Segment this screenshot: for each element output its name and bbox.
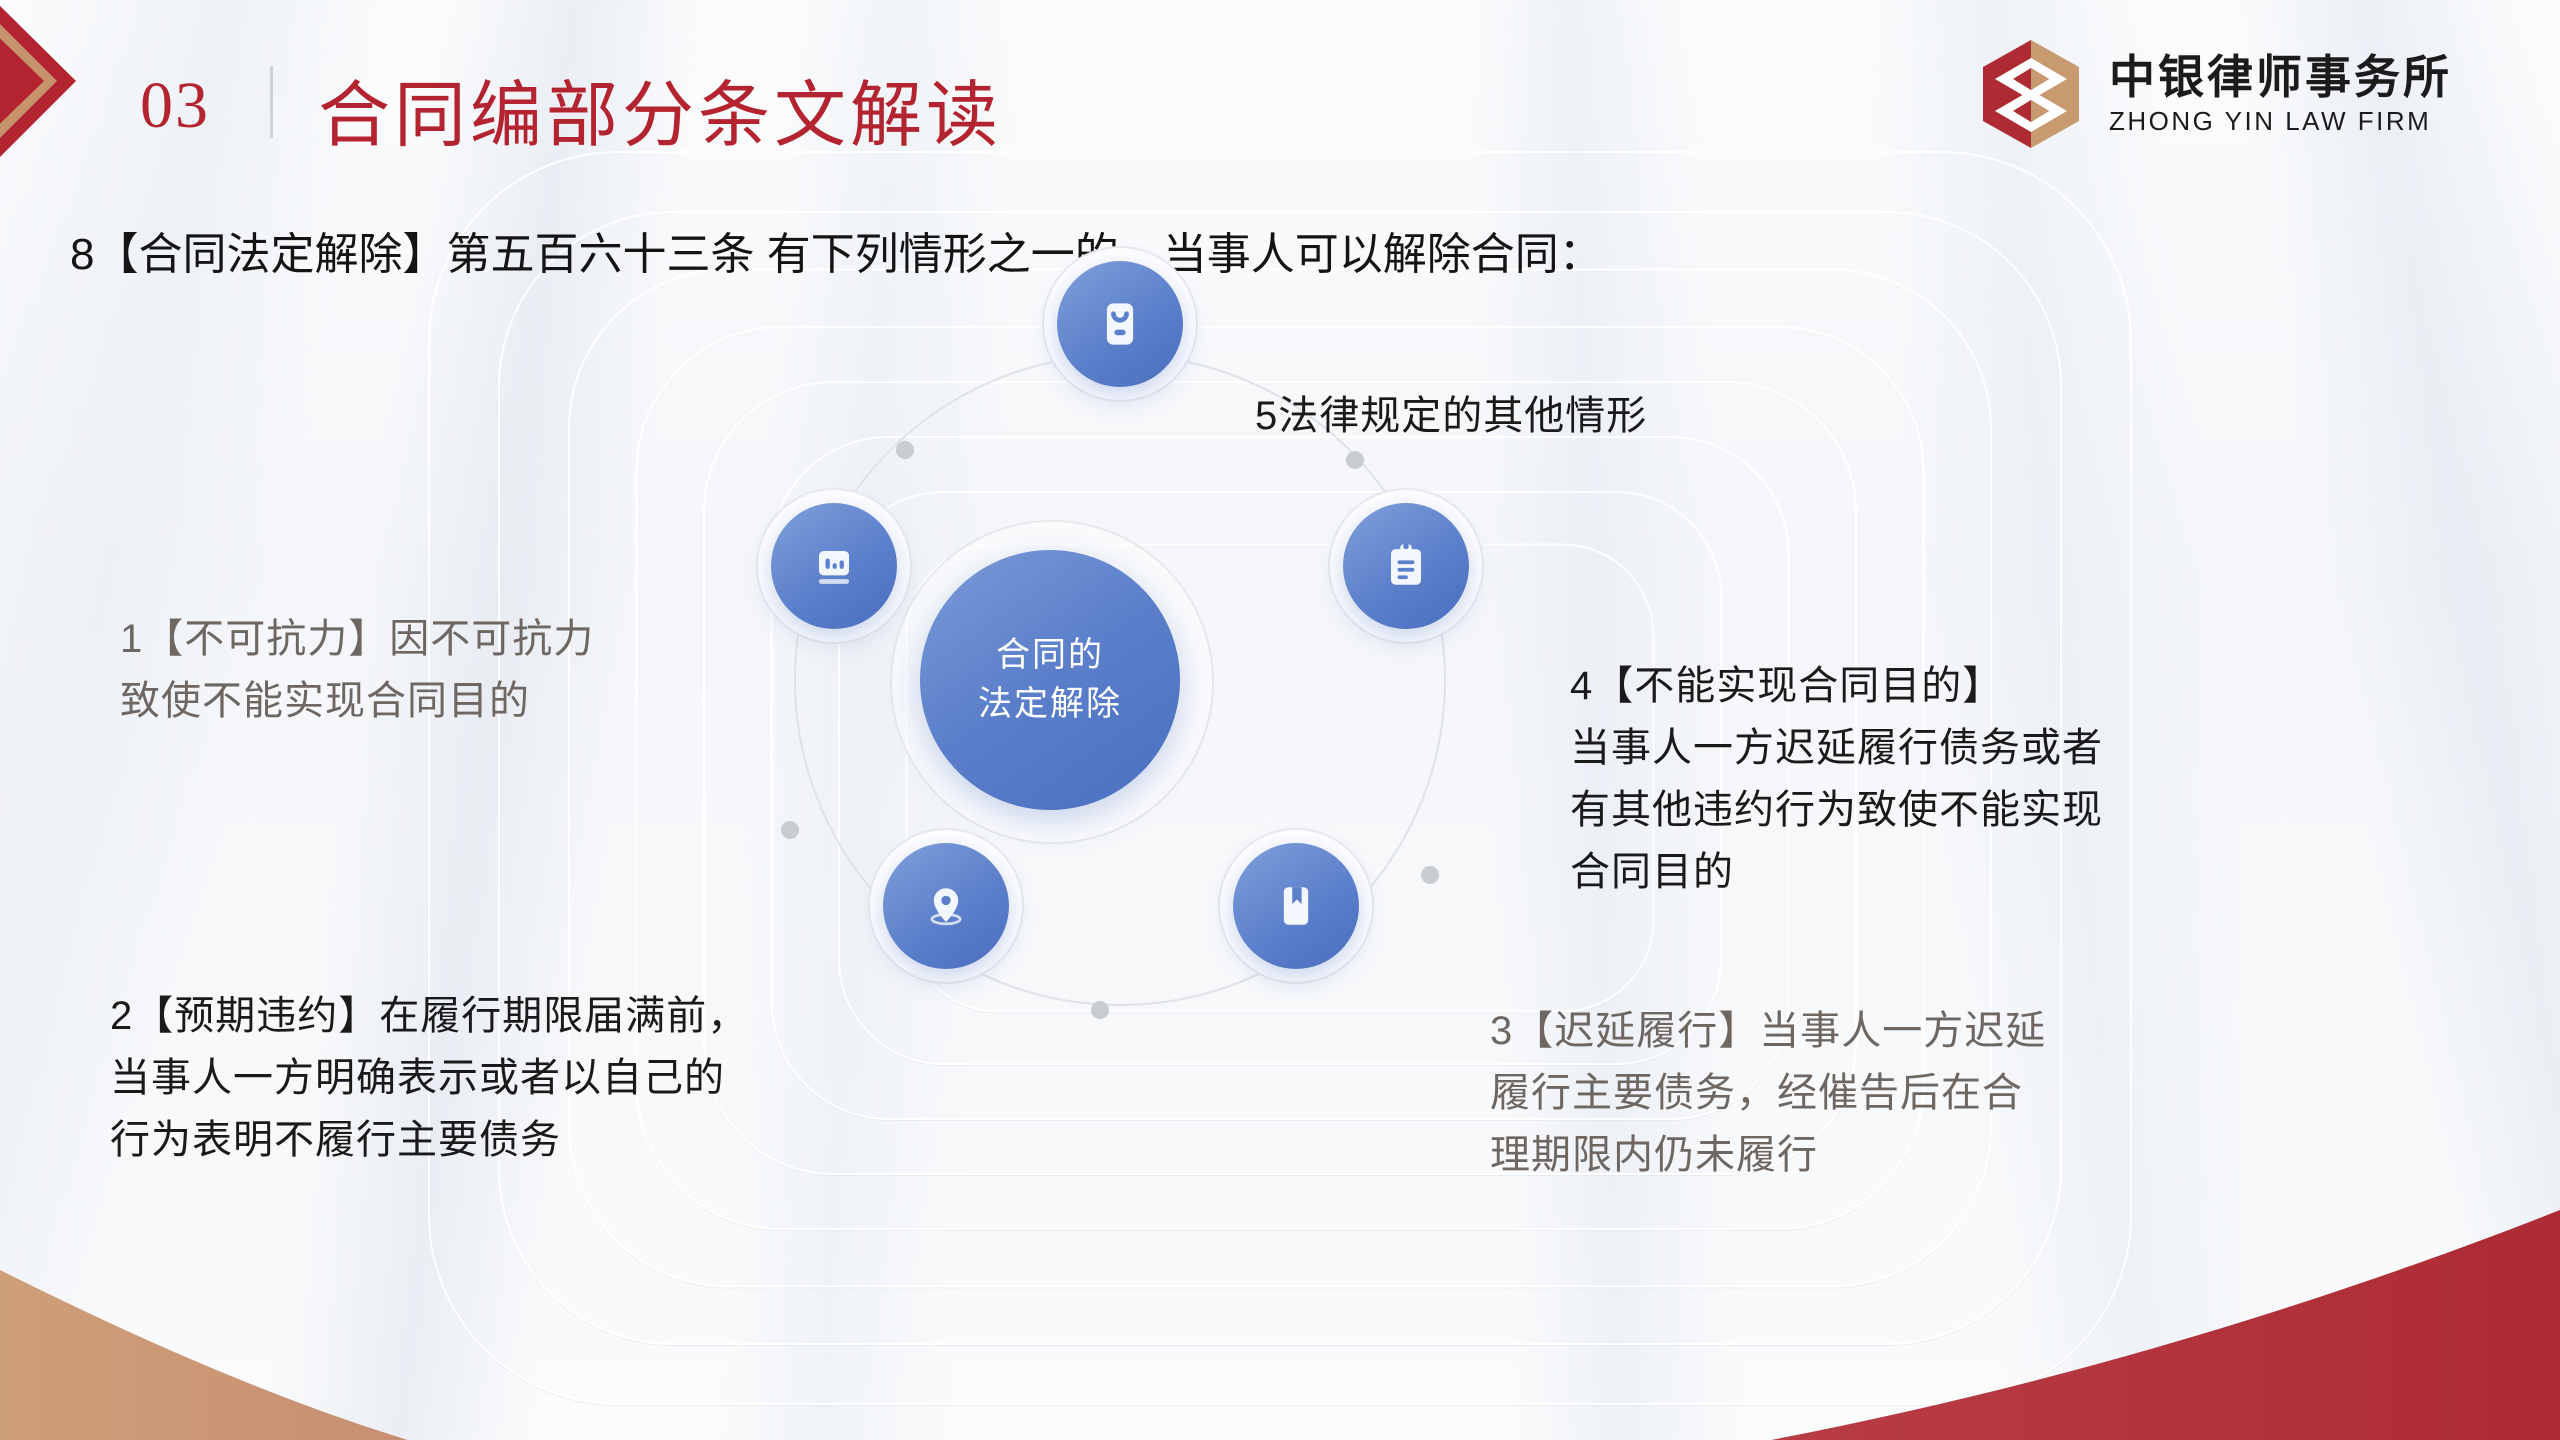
item-4-line-2: 当事人一方迟延履行债务或者 xyxy=(1570,717,2210,779)
item-1-line-2: 致使不能实现合同目的 xyxy=(120,670,740,732)
item-1-line-1: 1【不可抗力】因不可抗力 xyxy=(120,608,740,670)
item-3-line-3: 理期限内仍未履行 xyxy=(1490,1124,2150,1186)
card-face-icon xyxy=(1090,294,1150,354)
item-1-text: 1【不可抗力】因不可抗力 致使不能实现合同目的 xyxy=(120,608,740,732)
article-heading: 8【合同法定解除】第五百六十三条 有下列情形之一的，当事人可以解除合同： xyxy=(70,218,1603,282)
header-divider xyxy=(270,66,273,138)
section-number: 03 xyxy=(140,68,210,144)
slide-canvas: 03 合同编部分条文解读 中银律师事务所 ZHONG YIN LAW FIRM … xyxy=(0,0,2560,1440)
item-2-line-1: 2【预期违约】在履行期限届满前， xyxy=(110,985,810,1047)
item-4-line-4: 合同目的 xyxy=(1570,841,2210,903)
chart-board-icon xyxy=(804,536,864,596)
company-logo: 中银律师事务所 ZHONG YIN LAW FIRM xyxy=(1975,38,2452,150)
logo-english-name: ZHONG YIN LAW FIRM xyxy=(2109,108,2452,134)
item-2-line-3: 行为表明不履行主要债务 xyxy=(110,1109,810,1171)
diagram-node-top[interactable] xyxy=(1044,248,1196,400)
bottom-curve-shape xyxy=(0,1210,2560,1440)
diagram-node-bottom-right[interactable] xyxy=(1220,830,1372,982)
book-icon xyxy=(1266,876,1326,936)
diagram-node-left[interactable] xyxy=(758,490,910,642)
location-pin-icon xyxy=(916,876,976,936)
item-2-line-2: 当事人一方明确表示或者以自己的 xyxy=(110,1047,810,1109)
logo-chinese-name: 中银律师事务所 xyxy=(2109,54,2452,100)
item-4-line-3: 有其他违约行为致使不能实现 xyxy=(1570,779,2210,841)
item-3-line-2: 履行主要债务，经催告后在合 xyxy=(1490,1062,2150,1124)
diagram-node-right[interactable] xyxy=(1330,490,1482,642)
item-2-text: 2【预期违约】在履行期限届满前， 当事人一方明确表示或者以自己的 行为表明不履行… xyxy=(110,985,810,1171)
zhongyin-hexagon-logo-icon xyxy=(1975,38,2087,150)
item-5-line-1: 5法律规定的其他情形 xyxy=(1255,385,1875,447)
bottom-decoration-band xyxy=(0,1210,2560,1440)
center-label-line-2: 法定解除 xyxy=(978,680,1122,729)
item-4-line-1: 4【不能实现合同目的】 xyxy=(1570,655,2210,717)
item-4-text: 4【不能实现合同目的】 当事人一方迟延履行债务或者 有其他违约行为致使不能实现 … xyxy=(1570,655,2210,903)
item-5-text: 5法律规定的其他情形 xyxy=(1255,385,1875,447)
page-title: 合同编部分条文解读 xyxy=(318,56,1002,161)
item-3-line-1: 3【迟延履行】当事人一方迟延 xyxy=(1490,1000,2150,1062)
clipboard-icon xyxy=(1376,536,1436,596)
center-label-line-1: 合同的 xyxy=(996,631,1104,680)
diagram-center-node: 合同的 法定解除 xyxy=(920,550,1180,810)
diagram-node-bottom-left[interactable] xyxy=(870,830,1022,982)
item-3-text: 3【迟延履行】当事人一方迟延 履行主要债务，经催告后在合 理期限内仍未履行 xyxy=(1490,1000,2150,1186)
